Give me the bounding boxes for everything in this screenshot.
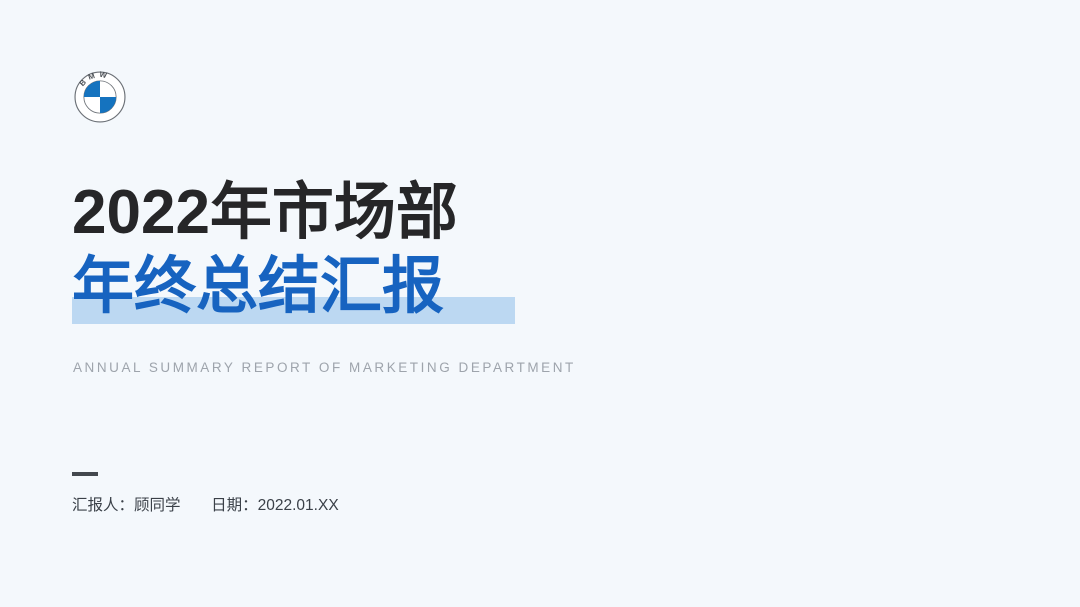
title-line-secondary-wrap: 年终总结汇报	[72, 250, 515, 324]
date-label: 日期：2022.01.XX	[211, 497, 339, 514]
title-slide: BMW 2022年市场部 年终总结汇报 ANNUAL SUMMARY REPOR…	[0, 0, 1080, 607]
title-line-secondary: 年终总结汇报	[72, 250, 515, 324]
title-line-primary: 2022年市场部	[72, 176, 692, 250]
footer-divider-rule	[72, 472, 98, 476]
footer: 汇报人：顾同学 日期：2022.01.XX	[72, 472, 339, 517]
subtitle-english: ANNUAL SUMMARY REPORT OF MARKETING DEPAR…	[73, 359, 576, 377]
presenter-label: 汇报人：顾同学	[72, 497, 181, 514]
footer-meta: 汇报人：顾同学 日期：2022.01.XX	[72, 495, 339, 517]
page-title: 2022年市场部 年终总结汇报	[72, 176, 692, 324]
bmw-logo-icon: BMW	[74, 71, 126, 123]
